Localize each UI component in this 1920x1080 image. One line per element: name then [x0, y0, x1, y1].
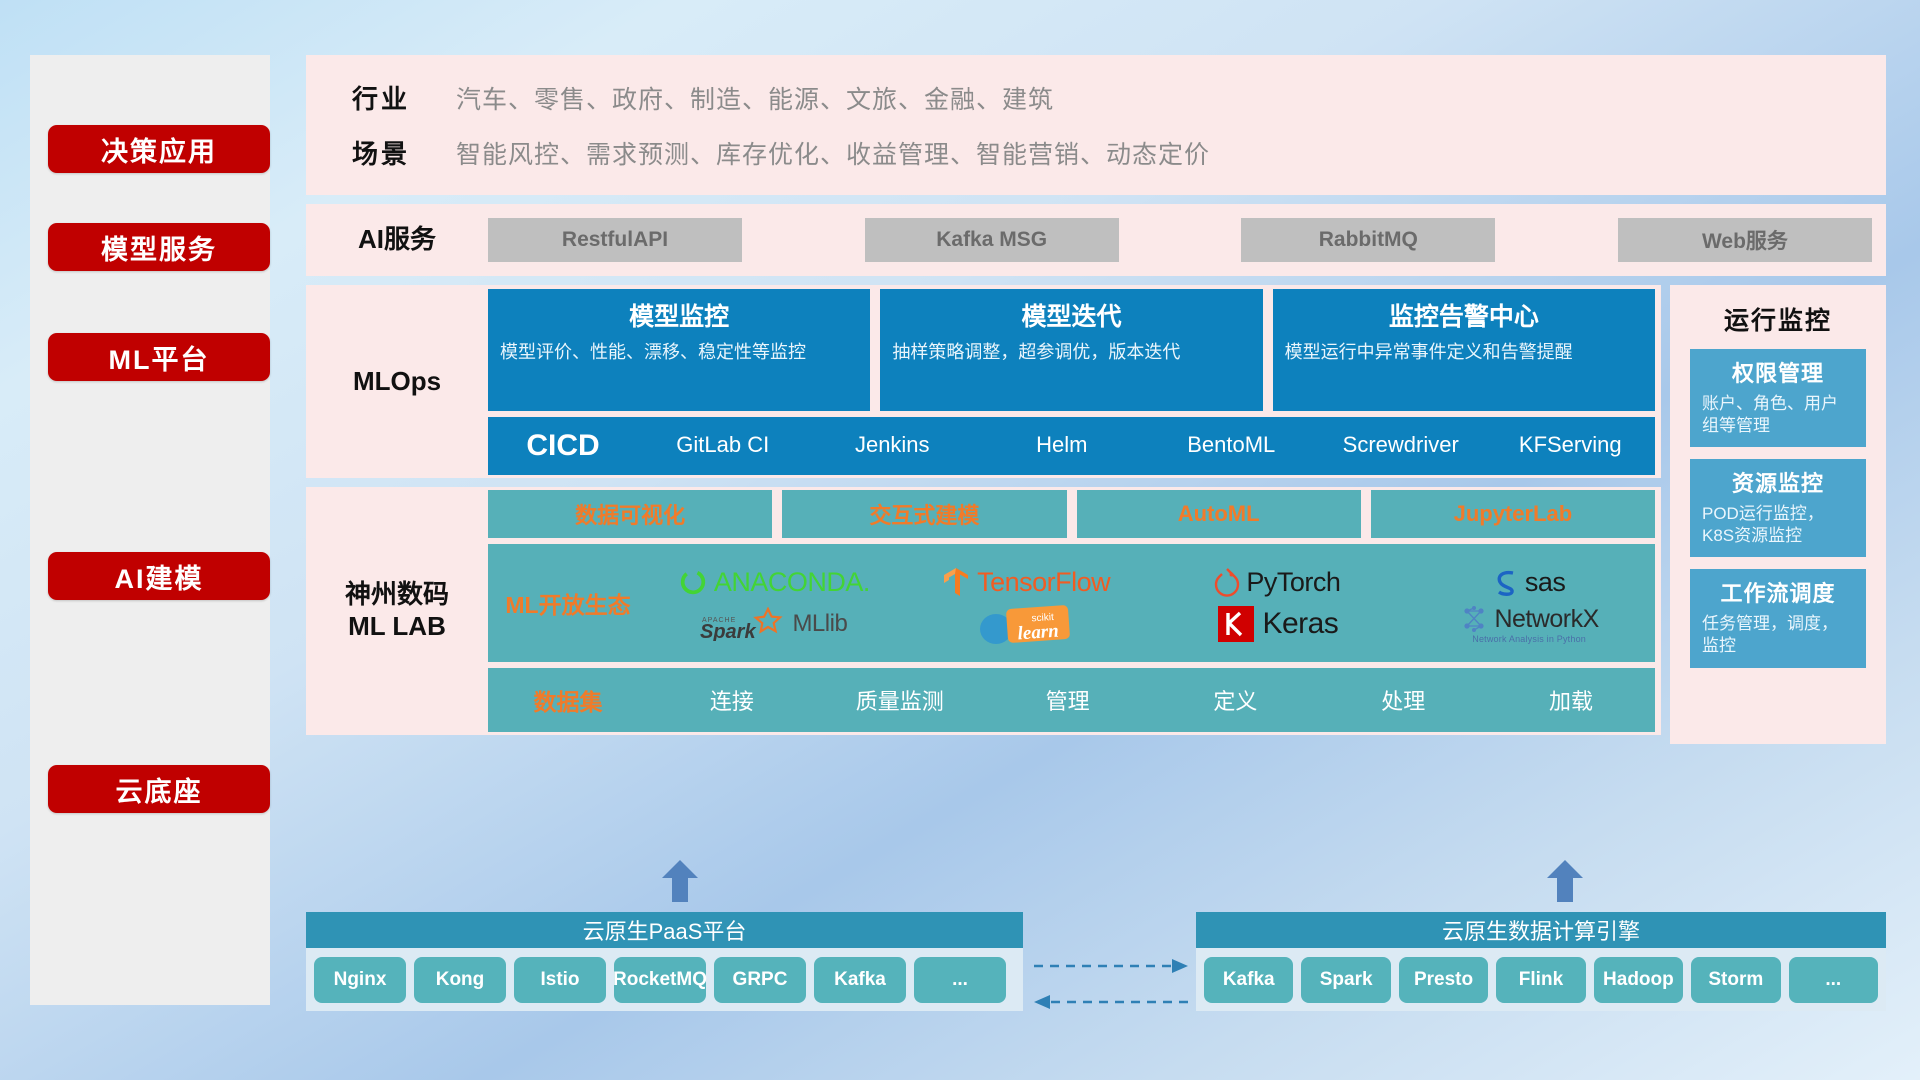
service-web[interactable]: Web服务 — [1618, 218, 1872, 262]
engine-chip-presto[interactable]: Presto — [1399, 957, 1488, 1003]
engine-chip-spark[interactable]: Spark — [1301, 957, 1390, 1003]
ml-lab-label-line1: 神州数码 — [306, 579, 488, 611]
logo-tensorflow: TensorFlow — [941, 566, 1110, 598]
mlops-card-alert-center[interactable]: 监控告警中心 模型运行中异常事件定义和告警提醒 — [1273, 289, 1655, 411]
runtime-monitor-column: 运行监控 权限管理 账户、角色、用户组等管理 资源监控 POD运行监控，K8S资… — [1670, 285, 1886, 744]
dataset-label: 数据集 — [488, 683, 648, 717]
cicd-item-jenkins[interactable]: Jenkins — [808, 431, 978, 459]
logo-text: TensorFlow — [977, 567, 1110, 598]
card-desc: 账户、角色、用户组等管理 — [1702, 393, 1854, 437]
card-desc: 抽样策略调整，超参调优，版本迭代 — [892, 341, 1250, 365]
keras-logo-icon — [1216, 604, 1256, 644]
card-desc: 任务管理，调度，监控 — [1702, 613, 1854, 657]
mlops-band: MLOps 模型监控 模型评价、性能、漂移、稳定性等监控 模型迭代 抽样策略调整… — [306, 285, 1661, 478]
dataset-bar: 数据集 连接 质量监测 管理 定义 处理 加载 — [488, 668, 1655, 732]
paas-title: 云原生PaaS平台 — [306, 912, 1023, 948]
cicd-item-bentoml[interactable]: BentoML — [1147, 431, 1317, 459]
rail-badge-model-service[interactable]: 模型服务 — [48, 223, 270, 271]
card-title: 权限管理 — [1702, 356, 1854, 388]
paas-chip-nginx[interactable]: Nginx — [314, 957, 406, 1003]
card-desc: 模型运行中异常事件定义和告警提醒 — [1285, 341, 1643, 365]
logo-networkx: NetworkX Network Analysis in Python — [1459, 604, 1598, 644]
svg-text:learn: learn — [1017, 621, 1060, 645]
logo-text: ANACONDA. — [714, 567, 870, 598]
paas-group: 云原生PaaS平台 Nginx Kong Istio RocketMQ GRPC… — [306, 912, 1023, 1011]
layer-rail — [30, 55, 270, 1005]
scenario-values: 智能风控、需求预测、库存优化、收益管理、智能营销、动态定价 — [456, 135, 1210, 171]
logo-anaconda: ANACONDA. — [678, 567, 870, 598]
ai-services-label: AI服务 — [306, 224, 488, 256]
logo-text: Keras — [1262, 607, 1338, 641]
arrow-up-paas-icon — [660, 860, 700, 902]
paas-chip-grpc[interactable]: GRPC — [714, 957, 806, 1003]
runtime-monitor-title: 运行监控 — [1724, 301, 1832, 337]
cloud-base-section: 云原生PaaS平台 Nginx Kong Istio RocketMQ GRPC… — [306, 880, 1886, 1040]
card-desc: 模型评价、性能、漂移、稳定性等监控 — [500, 341, 858, 365]
mlops-label: MLOps — [306, 366, 488, 398]
rail-badge-cloud-base[interactable]: 云底座 — [48, 765, 270, 813]
arrow-up-data-engine-icon — [1545, 860, 1585, 902]
engine-chip-hadoop[interactable]: Hadoop — [1594, 957, 1683, 1003]
cicd-item-screwdriver[interactable]: Screwdriver — [1316, 431, 1486, 459]
service-rabbitmq[interactable]: RabbitMQ — [1241, 218, 1495, 262]
dataset-item-quality[interactable]: 质量监测 — [816, 684, 984, 716]
svg-text:Spark: Spark — [700, 621, 756, 641]
logo-text: PyTorch — [1246, 567, 1340, 598]
paas-chip-more[interactable]: ... — [914, 957, 1006, 1003]
pytorch-logo-icon — [1214, 567, 1240, 597]
spark-logo-icon: APACHE Spark — [700, 607, 786, 641]
logo-scikit-learn: scikit learn — [974, 603, 1078, 645]
logo-spark-mllib: APACHE Spark MLlib — [700, 607, 847, 641]
paas-chip-kafka[interactable]: Kafka — [814, 957, 906, 1003]
dataset-item-connect[interactable]: 连接 — [648, 684, 816, 716]
card-desc: POD运行监控，K8S资源监控 — [1702, 503, 1854, 547]
cicd-title: CICD — [488, 429, 638, 463]
ml-ecosystem-label: ML开放生态 — [488, 586, 648, 620]
logo-keras: Keras — [1216, 604, 1338, 644]
logo-text: MLlib — [792, 610, 847, 638]
cicd-item-gitlab-ci[interactable]: GitLab CI — [638, 431, 808, 459]
service-kafka-msg[interactable]: Kafka MSG — [865, 218, 1119, 262]
data-engine-title: 云原生数据计算引擎 — [1196, 912, 1886, 948]
ml-lab-label: 神州数码 ML LAB — [306, 579, 488, 642]
paas-chip-istio[interactable]: Istio — [514, 957, 606, 1003]
lab-tab-data-visualization[interactable]: 数据可视化 — [488, 490, 772, 538]
data-engine-group: 云原生数据计算引擎 Kafka Spark Presto Flink Hadoo… — [1196, 912, 1886, 1011]
logo-text: NetworkX — [1494, 605, 1598, 634]
ml-lab-band: 神州数码 ML LAB 数据可视化 交互式建模 AutoML JupyterLa… — [306, 487, 1661, 735]
card-title: 监控告警中心 — [1285, 297, 1643, 333]
scenario-row: 场景 智能风控、需求预测、库存优化、收益管理、智能营销、动态定价 — [306, 134, 1886, 171]
architecture-diagram: 决策应用 模型服务 ML平台 AI建模 云底座 行业 汽车、零售、政府、制造、能… — [0, 0, 1920, 1080]
main-column: 行业 汽车、零售、政府、制造、能源、文旅、金融、建筑 场景 智能风控、需求预测、… — [306, 55, 1886, 744]
dataset-item-manage[interactable]: 管理 — [984, 684, 1152, 716]
ml-lab-label-line2: ML LAB — [306, 611, 488, 643]
logo-text: sas — [1525, 567, 1566, 598]
card-title: 资源监控 — [1702, 466, 1854, 498]
rail-badge-ml-platform[interactable]: ML平台 — [48, 333, 270, 381]
cicd-item-helm[interactable]: Helm — [977, 431, 1147, 459]
tensorflow-logo-icon — [941, 566, 971, 598]
platform-section: MLOps 模型监控 模型评价、性能、漂移、稳定性等监控 模型迭代 抽样策略调整… — [306, 285, 1886, 744]
logo-subtitle: Network Analysis in Python — [1472, 634, 1586, 644]
engine-chip-kafka[interactable]: Kafka — [1204, 957, 1293, 1003]
dataset-item-process[interactable]: 处理 — [1319, 684, 1487, 716]
lab-tab-interactive-modeling[interactable]: 交互式建模 — [782, 490, 1066, 538]
ai-services-band: AI服务 RestfulAPI Kafka MSG RabbitMQ Web服务 — [306, 204, 1886, 276]
dataset-item-define[interactable]: 定义 — [1151, 684, 1319, 716]
engine-chip-storm[interactable]: Storm — [1691, 957, 1780, 1003]
monitor-card-permission[interactable]: 权限管理 账户、角色、用户组等管理 — [1690, 349, 1866, 447]
paas-chip-kong[interactable]: Kong — [414, 957, 506, 1003]
engine-chip-flink[interactable]: Flink — [1496, 957, 1585, 1003]
networkx-logo-icon — [1459, 604, 1489, 634]
monitor-card-resource[interactable]: 资源监控 POD运行监控，K8S资源监控 — [1690, 459, 1866, 557]
monitor-card-workflow[interactable]: 工作流调度 任务管理，调度，监控 — [1690, 569, 1866, 667]
card-title: 模型迭代 — [892, 297, 1250, 333]
rail-badge-ai-modeling[interactable]: AI建模 — [48, 552, 270, 600]
cicd-item-kfserving[interactable]: KFServing — [1486, 431, 1656, 459]
cicd-bar: CICD GitLab CI Jenkins Helm BentoML Scre… — [488, 417, 1655, 475]
card-title: 工作流调度 — [1702, 576, 1854, 608]
anaconda-logo-icon — [678, 567, 708, 597]
sas-logo-icon — [1493, 568, 1519, 596]
dashed-arrows-connector — [1030, 954, 1192, 1014]
rail-badge-decision[interactable]: 决策应用 — [48, 125, 270, 173]
mlops-card-iteration[interactable]: 模型迭代 抽样策略调整，超参调优，版本迭代 — [880, 289, 1262, 411]
dataset-item-load[interactable]: 加载 — [1487, 684, 1655, 716]
ml-ecosystem-bar: ML开放生态 ANACONDA. — [488, 544, 1655, 662]
industry-row: 行业 汽车、零售、政府、制造、能源、文旅、金融、建筑 — [306, 79, 1886, 116]
paas-chip-rocketmq[interactable]: RocketMQ — [614, 957, 706, 1003]
industry-scenario-band: 行业 汽车、零售、政府、制造、能源、文旅、金融、建筑 场景 智能风控、需求预测、… — [306, 55, 1886, 195]
scenario-label: 场景 — [306, 134, 456, 171]
industry-values: 汽车、零售、政府、制造、能源、文旅、金融、建筑 — [456, 80, 1054, 116]
engine-chip-more[interactable]: ... — [1789, 957, 1878, 1003]
lab-tab-jupyterlab[interactable]: JupyterLab — [1371, 490, 1655, 538]
service-restful-api[interactable]: RestfulAPI — [488, 218, 742, 262]
logo-pytorch: PyTorch — [1214, 567, 1340, 598]
industry-label: 行业 — [306, 79, 456, 116]
scikit-learn-logo-icon: scikit learn — [974, 603, 1078, 645]
lab-tab-automl[interactable]: AutoML — [1077, 490, 1361, 538]
logo-sas: sas — [1493, 567, 1566, 598]
mlops-card-monitoring[interactable]: 模型监控 模型评价、性能、漂移、稳定性等监控 — [488, 289, 870, 411]
card-title: 模型监控 — [500, 297, 858, 333]
